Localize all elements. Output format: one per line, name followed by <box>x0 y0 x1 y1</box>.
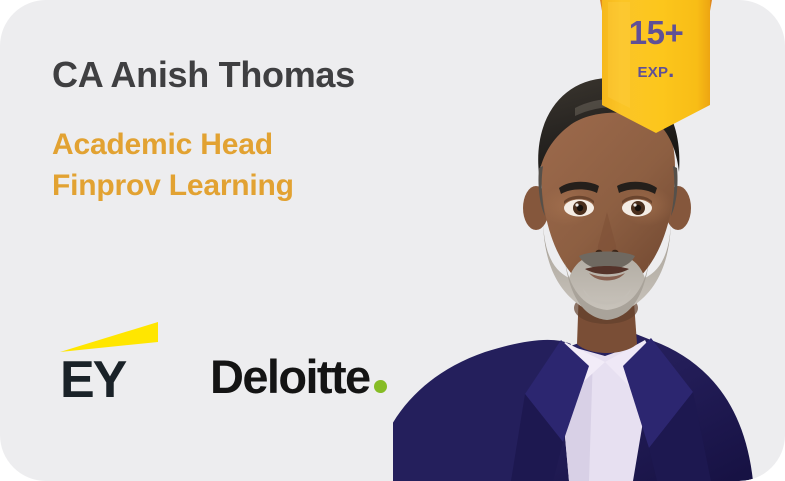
experience-badge: 15+ Exp. <box>600 0 712 133</box>
eye-glint-right <box>633 203 636 206</box>
profile-card: CA Anish Thomas Academic Head Finprov Le… <box>0 0 785 481</box>
ribbon-highlight <box>608 2 630 108</box>
role-block: Academic Head Finprov Learning <box>52 124 472 207</box>
name-block: CA Anish Thomas <box>52 54 452 95</box>
page-title: CA Anish Thomas <box>52 54 452 95</box>
deloitte-wordmark: Deloitte <box>210 353 370 400</box>
eye-glint-left <box>575 203 578 206</box>
ey-logo: EY <box>60 322 168 402</box>
role-line-2: Finprov Learning <box>52 165 472 206</box>
portrait-photo <box>393 56 785 481</box>
partner-logo-row: EY Deloitte <box>60 322 387 402</box>
deloitte-dot-icon <box>374 380 387 393</box>
deloitte-logo: Deloitte <box>210 353 387 400</box>
ey-beam-icon <box>60 322 158 354</box>
role-line-1: Academic Head <box>52 124 472 165</box>
ey-wordmark: EY <box>60 354 125 406</box>
